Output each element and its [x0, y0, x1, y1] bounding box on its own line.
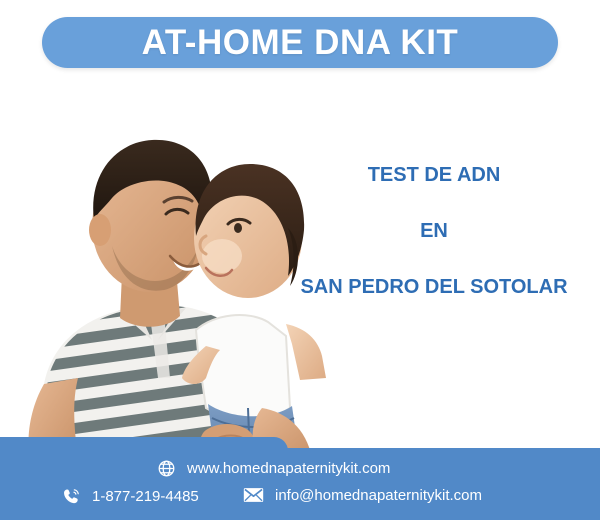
- header-banner-pill: AT-HOME DNA KIT: [42, 17, 558, 68]
- headline-line-1: TEST DE ADN: [268, 165, 600, 185]
- footer-email-text: info@homednapaternitykit.com: [275, 488, 482, 503]
- footer-contact-info: www.homednapaternitykit.com 1-877-219-44…: [0, 437, 600, 520]
- headline-line-2: EN: [268, 221, 600, 241]
- footer-email-row[interactable]: info@homednapaternitykit.com: [243, 487, 482, 503]
- envelope-icon: [243, 487, 264, 503]
- phone-icon: [62, 487, 81, 506]
- page-title: AT-HOME DNA KIT: [142, 25, 459, 60]
- footer-phone-row[interactable]: 1-877-219-4485: [62, 487, 199, 506]
- headline-line-3: SAN PEDRO DEL SOTOLAR: [268, 277, 600, 297]
- headline-block: TEST DE ADN EN SAN PEDRO DEL SOTOLAR: [268, 165, 600, 297]
- footer-website-text: www.homednapaternitykit.com: [187, 461, 390, 476]
- dna-kit-banner: AT-HOME DNA KIT: [0, 0, 600, 520]
- footer-website-row[interactable]: www.homednapaternitykit.com: [157, 459, 390, 478]
- globe-icon: [157, 459, 176, 478]
- footer-phone-text: 1-877-219-4485: [92, 489, 199, 504]
